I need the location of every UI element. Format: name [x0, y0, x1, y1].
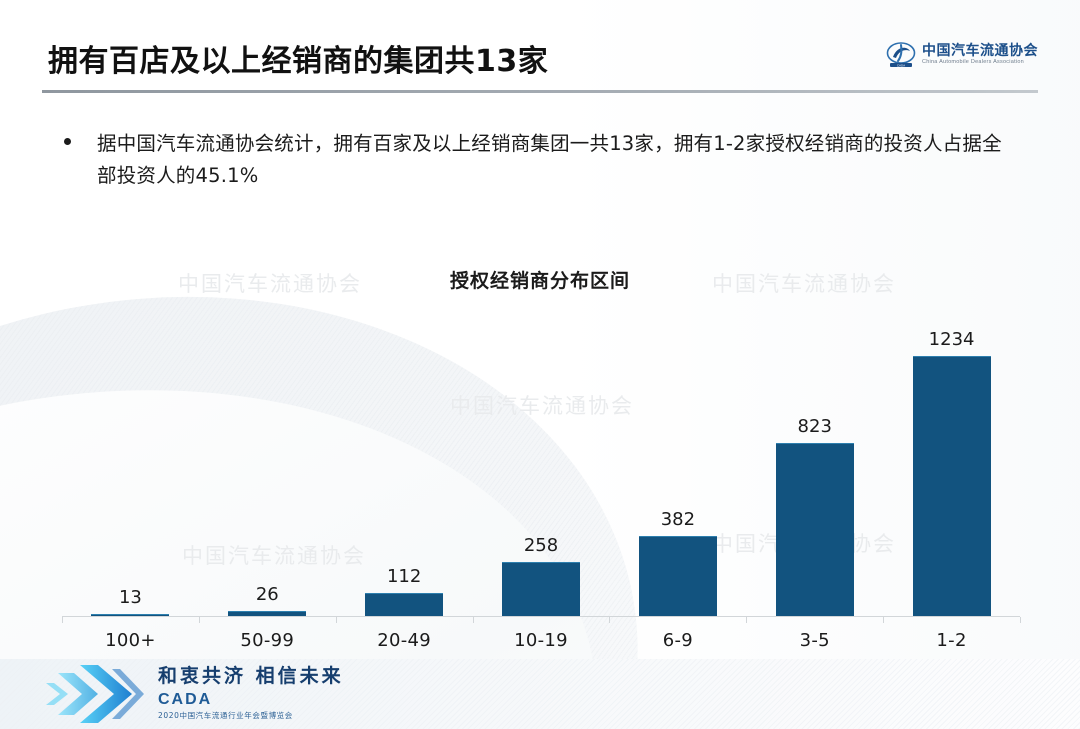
body-content: 据中国汽车流通协会统计，拥有百家及以上经销商集团一共13家，拥有1-2家授权经销…	[64, 128, 1010, 191]
x-axis-tick-label: 6-9	[609, 630, 746, 651]
x-axis-tick-label: 3-5	[746, 630, 883, 651]
bullet-dot-icon	[64, 138, 71, 145]
bar-value-label: 1234	[929, 331, 975, 349]
bar	[502, 562, 580, 617]
x-axis-tick	[473, 617, 474, 623]
x-axis-tick	[746, 617, 747, 623]
bar-value-label: 13	[119, 589, 142, 607]
footer-org-abbr: CADA	[158, 692, 344, 708]
chart-plot-area: 13261122583828231234	[62, 310, 1020, 617]
title-divider-rule	[42, 90, 1038, 93]
x-axis-tick-label: 100+	[62, 630, 199, 651]
bar-value-label: 26	[256, 586, 279, 604]
footer-brand-block: 和衷共济 相信未来 CADA 2020中国汽车流通行业年会暨博览会	[158, 667, 344, 720]
x-axis-tick	[62, 617, 63, 623]
cada-swirl-logo-icon: CADA	[886, 40, 916, 70]
bullet-item: 据中国汽车流通协会统计，拥有百家及以上经销商集团一共13家，拥有1-2家授权经销…	[64, 128, 1010, 191]
footer-banner: 和衷共济 相信未来 CADA 2020中国汽车流通行业年会暨博览会	[0, 659, 1080, 729]
bar-group: 823	[746, 310, 883, 617]
x-axis-tick-label: 50-99	[199, 630, 336, 651]
footer-event-name: 2020中国汽车流通行业年会暨博览会	[158, 712, 344, 720]
page-title: 拥有百店及以上经销商的集团共13家	[48, 36, 548, 80]
association-logo: CADA 中国汽车流通协会 China Automobile Dealers A…	[886, 40, 1038, 70]
bar-value-label: 382	[661, 511, 695, 529]
x-axis-tick	[336, 617, 337, 623]
x-axis-tick	[199, 617, 200, 623]
bar	[365, 593, 443, 617]
bullet-item-text: 据中国汽车流通协会统计，拥有百家及以上经销商集团一共13家，拥有1-2家授权经销…	[97, 128, 1010, 191]
bar	[913, 356, 991, 617]
bar	[639, 536, 717, 617]
x-axis-tick-label: 20-49	[336, 630, 473, 651]
association-name-cn: 中国汽车流通协会	[922, 44, 1038, 59]
x-axis-tick	[609, 617, 610, 623]
bar-group: 112	[336, 310, 473, 617]
slide-header: 拥有百店及以上经销商的集团共13家 CADA 中国汽车流通协会 China Au…	[0, 0, 1080, 96]
bar-group: 13	[62, 310, 199, 617]
svg-text:CADA: CADA	[897, 63, 905, 67]
x-axis-line	[62, 616, 1020, 617]
bar-value-label: 112	[387, 568, 421, 586]
slide-canvas: 拥有百店及以上经销商的集团共13家 CADA 中国汽车流通协会 China Au…	[0, 0, 1080, 729]
chevron-arrows-icon	[46, 663, 176, 725]
bar-chart: 授权经销商分布区间 13261122583828231234 100+50-99…	[0, 250, 1080, 650]
association-logo-text: 中国汽车流通协会 China Automobile Dealers Associ…	[922, 44, 1038, 66]
association-name-en: China Automobile Dealers Association	[922, 60, 1038, 66]
footer-slogan: 和衷共济 相信未来	[158, 667, 344, 686]
x-axis-tick	[883, 617, 884, 623]
x-axis-tick-label: 10-19	[473, 630, 610, 651]
chart-title: 授权经销商分布区间	[0, 266, 1080, 293]
bar-value-label: 823	[798, 418, 832, 436]
x-axis-tick-label: 1-2	[883, 630, 1020, 651]
bar-group: 382	[609, 310, 746, 617]
chart-bars: 13261122583828231234	[62, 310, 1020, 617]
bar-group: 258	[473, 310, 610, 617]
x-axis-tick	[1020, 617, 1021, 623]
bar-value-label: 258	[524, 537, 558, 555]
bar-group: 1234	[883, 310, 1020, 617]
x-axis-labels: 100+50-9920-4910-196-93-51-2	[62, 630, 1020, 651]
bar-group: 26	[199, 310, 336, 617]
bar	[776, 443, 854, 617]
